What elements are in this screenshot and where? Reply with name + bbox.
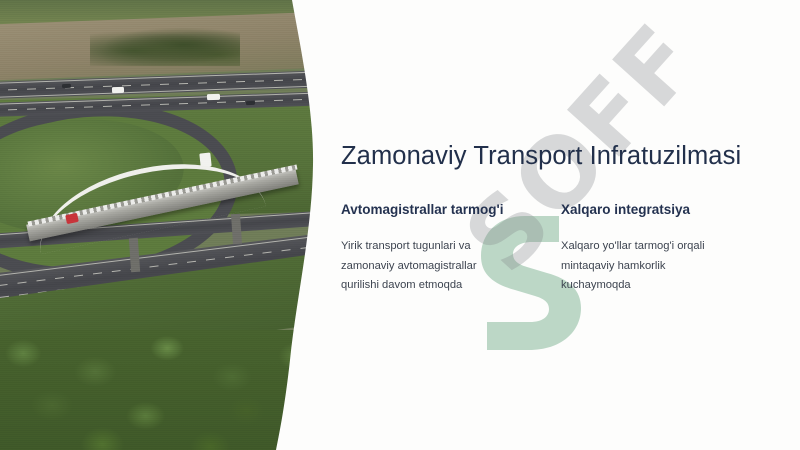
column-heading: Avtomagistrallar tarmog'i xyxy=(341,201,533,219)
slide-title: Zamonaviy Transport Infratuzilmasi xyxy=(341,140,781,172)
body-line: Yirik transport tugunlari va xyxy=(341,237,533,257)
column-international-integration: Xalqaro integratsiya Xalqaro yo'llar tar… xyxy=(561,201,753,296)
body-line: qurilishi davom etmoqda xyxy=(341,276,533,296)
highway-interchange-aerial-photo xyxy=(0,0,320,450)
photo-artwork xyxy=(0,0,320,450)
slide-canvas: SOFF Zamonaviy Transport Infratuzilmasi … xyxy=(0,0,800,450)
body-line: kuchaymoqda xyxy=(561,276,753,296)
photo-grain-overlay xyxy=(0,0,320,450)
body-line: Xalqaro yo'llar tarmog'i orqali xyxy=(561,237,753,257)
two-column-layout: Avtomagistrallar tarmog'i Yirik transpor… xyxy=(341,201,781,296)
column-body: Xalqaro yo'llar tarmog'i orqali mintaqav… xyxy=(561,237,753,296)
column-body: Yirik transport tugunlari va zamonaviy a… xyxy=(341,237,533,296)
column-highway-network: Avtomagistrallar tarmog'i Yirik transpor… xyxy=(341,201,533,296)
body-line: zamonaviy avtomagistrallar xyxy=(341,257,533,277)
column-heading: Xalqaro integratsiya xyxy=(561,201,753,219)
body-line: mintaqaviy hamkorlik xyxy=(561,257,753,277)
text-content: Zamonaviy Transport Infratuzilmasi Avtom… xyxy=(341,0,781,450)
